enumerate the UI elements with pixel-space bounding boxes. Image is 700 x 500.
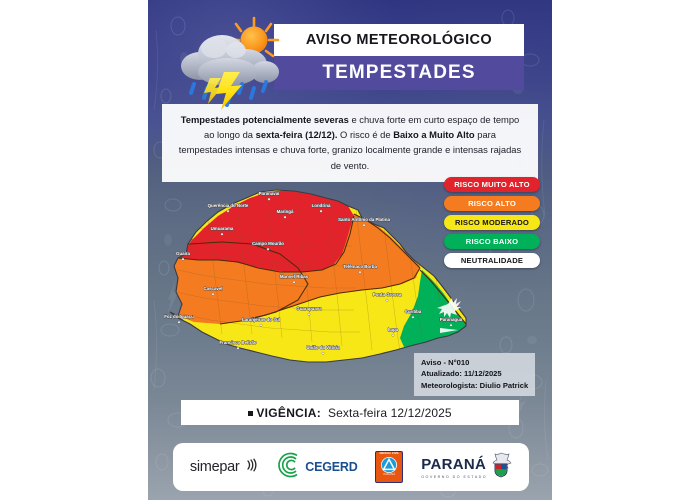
parana-logo-text: PARANÁ [421,456,486,473]
map-city-dot [260,324,262,326]
map-city-dot [392,334,394,336]
alert-kicker-band: AVISO METEOROLÓGICO [274,24,524,56]
map-city-dot [386,299,388,301]
map-city-label: Manoel Ribas [280,274,309,279]
footer-logos: simepar [173,443,529,491]
alert-description-segment-0: Tempestades potencialmente severas [181,114,349,125]
alert-updated: Atualizado: 11/12/2025 [421,368,528,379]
map-city-dot [268,198,270,200]
parana-logo-subtitle: GOVERNO DO ESTADO [421,475,487,479]
alert-title-band: TEMPESTADES [274,56,524,90]
legend-item-2: RISCO MODERADO [444,215,540,230]
map-city-dot [227,210,229,212]
map-city-label: Francisco Beltrão [219,340,256,345]
map-city-label: Querência do Norte [208,203,249,208]
defesa-civil-bottom-text: PARANÁ [383,474,395,477]
map-city-label: Curitiba [405,309,422,314]
map-city-dot [237,347,239,349]
map-city-label: Guarapuava [296,306,322,311]
map-city-dot [293,281,295,283]
validity-label: VIGÊNCIA: [248,406,321,420]
signal-waves-icon [243,457,259,478]
map-city-label: Guaíra [176,251,190,256]
alert-description-segment-3: O risco é de [337,129,393,140]
map-city-dot [267,248,269,250]
alert-metadata-box: Aviso - N°010 Atualizado: 11/12/2025 Met… [414,353,535,396]
map-city-label: Umuarama [211,226,234,231]
defesa-civil-logo: DEFESA CIVIL PARANÁ [375,451,403,483]
map-city-label: Campo Mourão [252,241,284,246]
alert-number: Aviso - N°010 [421,357,528,368]
legend-item-1: RISCO ALTO [444,196,540,211]
alert-kicker-text: AVISO METEOROLÓGICO [306,32,492,48]
map-city-dot [359,271,361,273]
map-city-label: Foz do Iguaçu [164,314,194,319]
map-city-dot [322,352,324,354]
page-title: TEMPESTADES [322,62,475,84]
risk-legend: RISCO MUITO ALTORISCO ALTORISCO MODERADO… [444,177,540,268]
map-city-dot [320,210,322,212]
map-city-dot [182,258,184,260]
legend-item-3: RISCO BAIXO [444,234,540,249]
map-city-dot [412,316,414,318]
cegerd-logo: CEGERD [277,451,357,484]
concentric-arcs-icon [277,451,305,484]
map-city-label: Santo Antônio da Platina [338,217,390,222]
map-city-label: Telêmaco Borba [343,264,377,269]
map-city-label: Paranaguá [440,317,463,322]
map-city-dot [178,321,180,323]
map-city-label: Laranjeiras do Sul [242,317,280,322]
weather-alert-poster: AVISO METEOROLÓGICO TEMPESTADES Tempesta… [148,0,552,500]
map-city-label: Ponta Grossa [373,292,402,297]
validity-bar: VIGÊNCIA: Sexta-feira 12/12/2025 [181,400,519,425]
alert-description-segment-2: sexta-feira (12/12). [256,129,338,140]
map-city-dot [308,313,310,315]
simepar-logo: simepar [190,457,259,478]
map-city-label: Londrina [312,203,331,208]
map-city-label: Paranavaí [259,191,281,196]
map-city-dot [212,293,214,295]
thunderstorm-sun-icon [170,14,288,110]
parana-coat-of-arms-icon [490,452,512,483]
map-city-label: Lapa [388,327,399,332]
alert-meteorologist: Meteorologista: Diulio Patrick [421,380,528,391]
alert-description-segment-4: Baixo a Muito Alto [393,129,474,140]
legend-item-0: RISCO MUITO ALTO [444,177,540,192]
simepar-logo-text: simepar [190,459,239,475]
map-city-dot [221,233,223,235]
alert-description: Tempestades potencialmente severas e chu… [162,104,538,182]
map-city-label: Cascavel [203,286,222,291]
validity-value: Sexta-feira 12/12/2025 [328,406,452,420]
map-city-dot [450,324,452,326]
bullet-square-icon [248,411,253,416]
civil-defense-triangle-icon: DEFESA CIVIL PARANÁ [375,451,403,483]
parana-governo-logo: PARANÁ GOVERNO DO ESTADO [421,452,512,483]
map-city-label: Maringá [277,209,294,214]
map-city-dot [284,216,286,218]
map-city-dot [363,224,365,226]
map-city-label: União da Vitória [306,345,340,350]
cegerd-logo-text: CEGERD [305,460,357,474]
legend-item-4: NEUTRALIDADE [444,253,540,268]
